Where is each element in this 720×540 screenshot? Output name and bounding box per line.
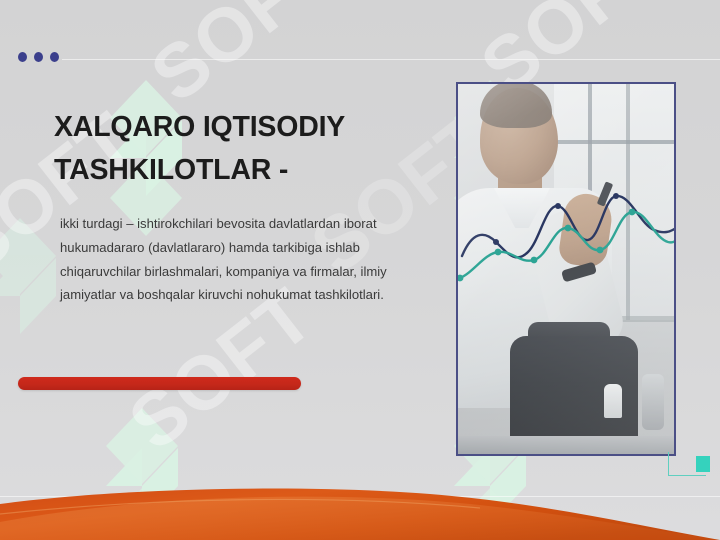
businessman-drawing-chart-photo bbox=[458, 84, 674, 454]
chart-wave-overlay bbox=[458, 180, 674, 340]
dot-icon bbox=[18, 52, 27, 62]
orange-bottom-wave bbox=[0, 470, 720, 540]
presentation-slide: SOFT SOFT SOFT SOFT SOFT SOFT XALQARO IQ… bbox=[0, 0, 720, 540]
dot-icon bbox=[34, 52, 43, 62]
red-accent-bar bbox=[18, 377, 301, 390]
desk-surface bbox=[458, 436, 674, 454]
chart-data-point bbox=[493, 193, 619, 245]
person-hair bbox=[480, 84, 552, 128]
slide-body-text: ikki turdagi – ishtirokchilari bevosita … bbox=[60, 212, 410, 307]
desk-object bbox=[642, 374, 664, 430]
photo-frame bbox=[456, 82, 676, 456]
desk-object bbox=[604, 384, 622, 418]
slide-title: XALQARO IQTISODIY TASHKILOTLAR - bbox=[54, 106, 426, 193]
header-divider-line bbox=[62, 59, 720, 60]
three-dots-decoration bbox=[18, 52, 59, 62]
dot-icon bbox=[50, 52, 59, 62]
